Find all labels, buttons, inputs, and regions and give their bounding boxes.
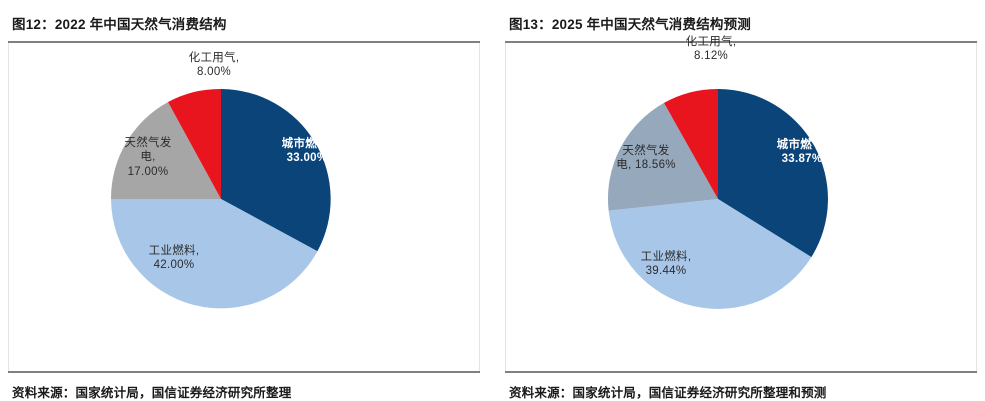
figure-panel-left: 图12：2022 年中国天然气消费结构 化工用气, 8.00% 城市燃气, 33… (8, 0, 480, 401)
pie-label-city-gas-left: 城市燃气, 33.00% (259, 137, 355, 166)
pie-label-chemical-left: 化工用气, 8.00% (159, 51, 269, 80)
pie-chart-left (31, 59, 451, 329)
pie-label-power-generation-right: 天然气发 电, 18.56% (594, 144, 698, 173)
pie-chart-right (528, 59, 948, 329)
figure-left-pie-wrap: 化工用气, 8.00% 城市燃气, 33.00% 工业燃料, 42.00% 天然… (9, 43, 479, 371)
figure-right-pie-wrap: 化工用气, 8.12% 城市燃气, 33.87% 工业燃料, 39.44% 天然… (506, 43, 976, 371)
figure-right-chart-area: 化工用气, 8.12% 城市燃气, 33.87% 工业燃料, 39.44% 天然… (505, 43, 977, 371)
figure-pair-container: 图12：2022 年中国天然气消费结构 化工用气, 8.00% 城市燃气, 33… (0, 0, 985, 401)
pie-label-industrial-fuel-left: 工业燃料, 42.00% (119, 244, 229, 273)
pie-label-power-generation-left: 天然气发 电, 17.00% (107, 136, 189, 179)
figure-right-source: 资料来源：国家统计局，国信证券经济研究所整理和预测 (505, 373, 977, 401)
panel-gutter (480, 0, 505, 401)
figure-left-source: 资料来源：国家统计局，国信证券经济研究所整理 (8, 373, 480, 401)
figure-left-title: 图12：2022 年中国天然气消费结构 (8, 0, 480, 41)
pie-label-chemical-right: 化工用气, 8.12% (656, 35, 766, 64)
pie-label-city-gas-right: 城市燃气, 33.87% (754, 138, 850, 167)
figure-left-chart-area: 化工用气, 8.00% 城市燃气, 33.00% 工业燃料, 42.00% 天然… (8, 43, 480, 371)
figure-panel-right: 图13：2025 年中国天然气消费结构预测 化工用气, 8.12% 城市燃气, … (505, 0, 977, 401)
pie-label-industrial-fuel-right: 工业燃料, 39.44% (611, 250, 721, 279)
